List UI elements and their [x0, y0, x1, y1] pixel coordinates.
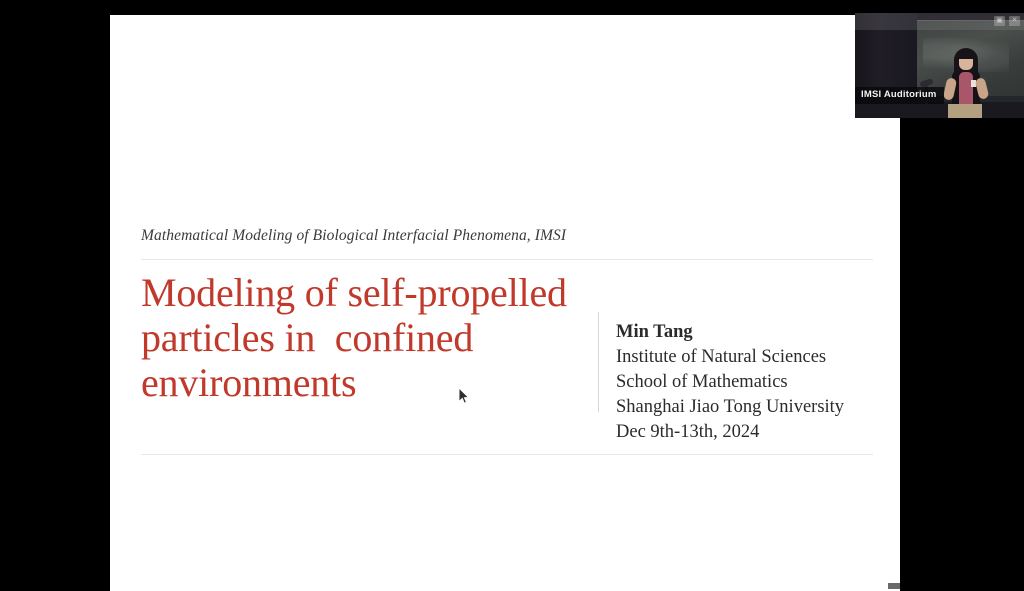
title-line-1: Modeling of self-propelled	[141, 270, 584, 315]
podium	[948, 104, 982, 118]
webcam-pip-panel[interactable]: ▣ ✕ IMSI Auditorium	[855, 13, 1024, 118]
slide-edge-artifact	[888, 583, 900, 589]
title-author-row: Modeling of self-propelled particles in …	[141, 260, 873, 454]
page-title: Modeling of self-propelled particles in …	[141, 270, 584, 405]
pip-close-button[interactable]: ✕	[1009, 16, 1020, 26]
speaker-shirt	[959, 72, 973, 106]
vertical-divider	[598, 312, 599, 412]
presentation-slide: Mathematical Modeling of Biological Inte…	[110, 15, 900, 591]
stage-floor	[855, 102, 1024, 118]
webcam-source-label: IMSI Auditorium	[855, 87, 944, 104]
slide-content: Mathematical Modeling of Biological Inte…	[141, 226, 873, 455]
screen-root: Mathematical Modeling of Biological Inte…	[0, 0, 1024, 591]
divider-rule-bottom	[141, 454, 873, 455]
author-name: Min Tang	[616, 320, 873, 345]
author-affiliation-1: Institute of Natural Sciences	[616, 345, 873, 370]
conference-kicker: Mathematical Modeling of Biological Inte…	[141, 226, 873, 245]
author-affiliation-3: Shanghai Jiao Tong University	[616, 395, 873, 420]
title-line-3: environments	[141, 360, 584, 405]
pip-resize-button[interactable]: ▣	[994, 16, 1005, 26]
title-line-2: particles in confined	[141, 315, 584, 360]
webcam-controls: ▣ ✕	[994, 16, 1020, 26]
speaker-figure	[943, 40, 989, 114]
title-column: Modeling of self-propelled particles in …	[141, 270, 598, 405]
speaker-hair-front	[957, 50, 975, 59]
author-column: Min Tang Institute of Natural Sciences S…	[598, 270, 873, 445]
author-affiliation-2: School of Mathematics	[616, 370, 873, 395]
talk-date: Dec 9th-13th, 2024	[616, 420, 873, 445]
